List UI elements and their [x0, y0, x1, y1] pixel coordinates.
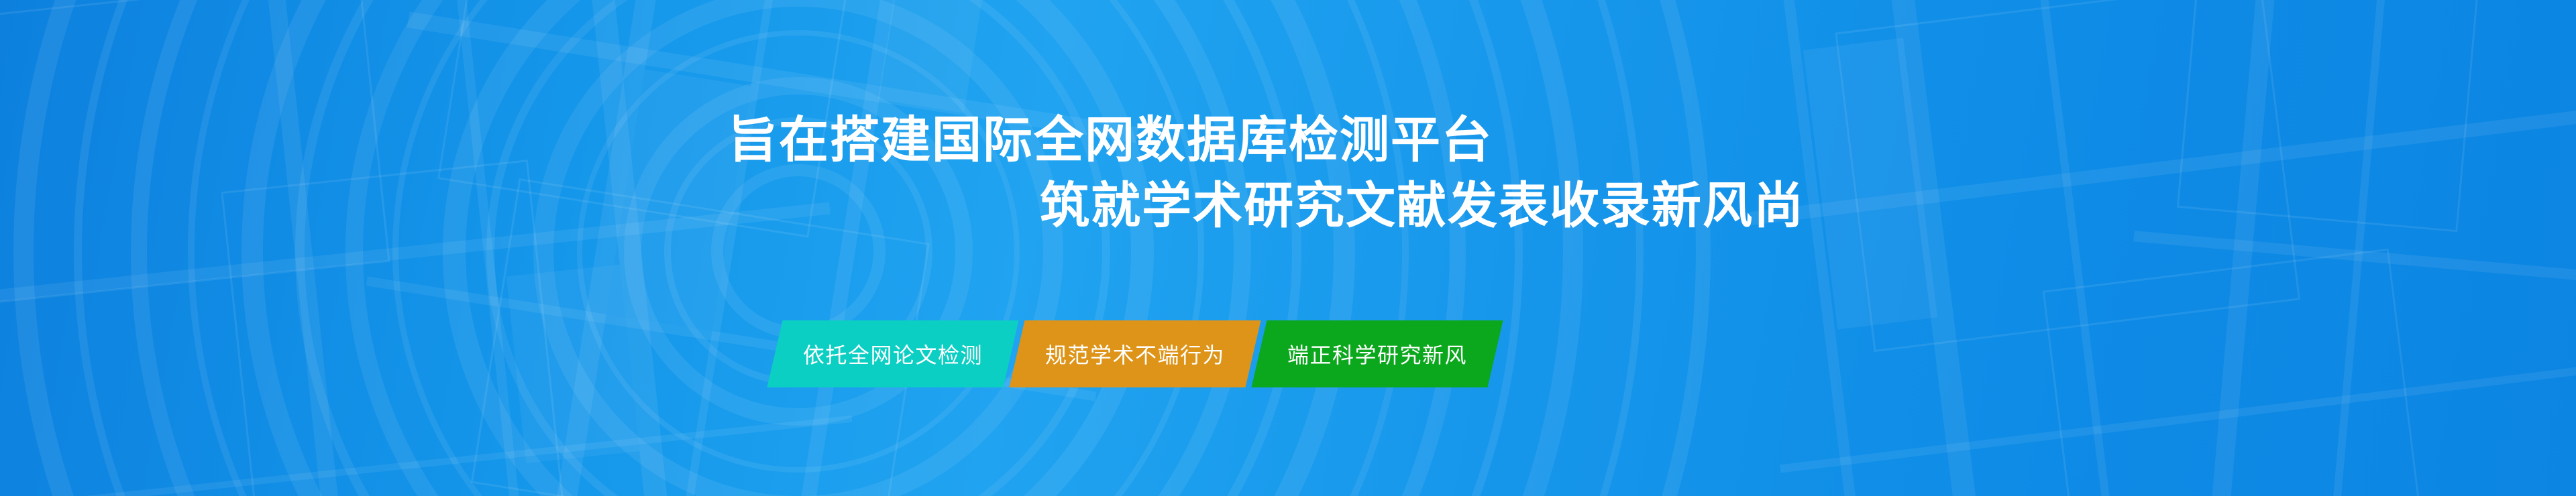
headline-line-2: 筑就学术研究文献发表收录新风尚 — [0, 173, 1811, 239]
grid-frame — [2043, 249, 2425, 496]
ring-15 — [13, 0, 1583, 496]
headline-line-1: 旨在搭建国际全网数据库检测平台 — [0, 107, 1811, 173]
ring-10 — [295, 0, 1301, 496]
background-grid-frames — [0, 0, 2576, 496]
grid-cluster-right — [1714, 0, 2576, 496]
grid-frame — [1835, 0, 2300, 352]
grid-bar — [256, 0, 352, 496]
grid-block — [878, 0, 984, 113]
ring-13 — [131, 0, 1466, 496]
grid-cluster-left — [0, 0, 868, 496]
grid-bar — [1774, 0, 1879, 496]
grid-bar — [2204, 0, 2284, 496]
ring-11 — [241, 0, 1355, 496]
feature-badge-2-label: 规范学术不端行为 — [1045, 338, 1225, 369]
hero-banner: 旨在搭建国际全网数据库检测平台 筑就学术研究文献发表收录新风尚 依托全网论文检测… — [0, 0, 2576, 496]
ring-5 — [533, 0, 1063, 496]
ring-6 — [486, 0, 1110, 496]
grid-bar — [1780, 351, 2576, 473]
grid-bar — [443, 0, 531, 496]
feature-badge-list: 依托全网论文检测 规范学术不端行为 端正科学研究新风 — [775, 320, 1495, 387]
grid-block — [506, 265, 639, 463]
grid-frame — [2177, 0, 2480, 232]
grid-bar — [1749, 98, 2576, 225]
background-gradient — [0, 0, 2576, 496]
grid-bar — [538, 0, 680, 496]
ring-8 — [392, 0, 1204, 496]
ring-16 — [0, 0, 1644, 496]
ring-7 — [443, 0, 1154, 496]
ring-17 — [0, 0, 1711, 496]
grid-bar — [0, 416, 852, 496]
headline: 旨在搭建国际全网数据库检测平台 筑就学术研究文献发表收录新风尚 — [0, 107, 1811, 239]
ring-14 — [74, 0, 1523, 496]
grid-cluster-far-right — [2104, 0, 2576, 496]
ring-4 — [577, 30, 1020, 473]
feature-badge-3-label: 端正科学研究新风 — [1287, 338, 1467, 369]
grid-bar — [2324, 0, 2394, 496]
grid-bar — [2027, 0, 2129, 496]
grid-bar — [2133, 231, 2576, 289]
feature-badge-1-label: 依托全网论文检测 — [803, 338, 983, 369]
feature-badge-2[interactable]: 规范学术不端行为 — [1009, 320, 1260, 387]
grid-bar — [1880, 0, 1998, 496]
grid-block — [1803, 38, 1937, 329]
ring-12 — [188, 0, 1409, 496]
feature-badge-1[interactable]: 依托全网论文检测 — [767, 320, 1018, 387]
ring-9 — [345, 0, 1251, 496]
grid-bar — [664, 0, 794, 496]
grid-bar — [576, 0, 678, 496]
grid-cluster-mid — [319, 0, 1170, 496]
feature-badge-3[interactable]: 端正科学研究新风 — [1251, 320, 1503, 387]
background-rings — [0, 0, 2576, 496]
grid-bar — [777, 0, 913, 496]
